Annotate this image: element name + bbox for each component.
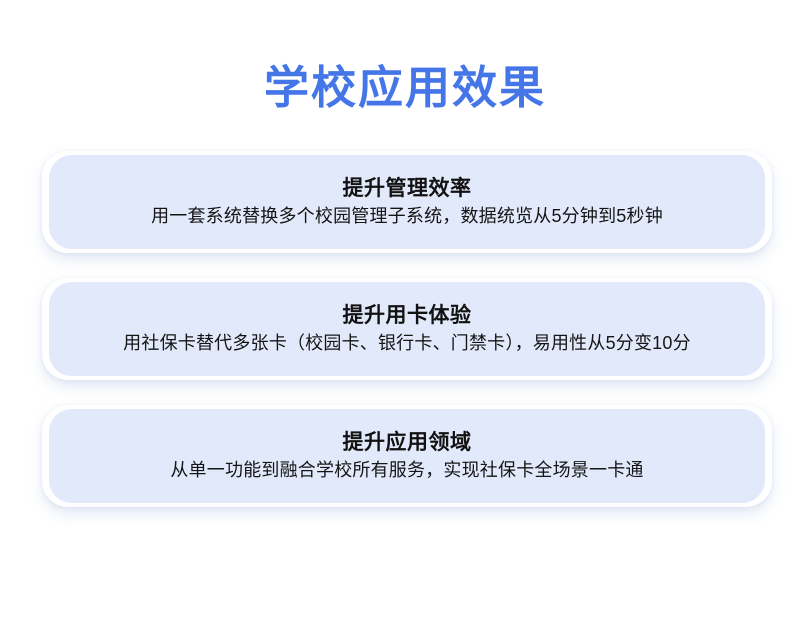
- benefit-card-1-body: 用一套系统替换多个校园管理子系统，数据统览从5分钟到5秒钟: [151, 204, 663, 229]
- benefit-card-3: 提升应用领域 从单一功能到融合学校所有服务，实现社保卡全场景一卡通: [42, 405, 772, 507]
- benefit-card-2-body: 用社保卡替代多张卡（校园卡、银行卡、门禁卡），易用性从5分变10分: [123, 331, 691, 356]
- benefit-card-2-inner: 提升用卡体验 用社保卡替代多张卡（校园卡、银行卡、门禁卡），易用性从5分变10分: [49, 282, 765, 376]
- benefit-card-2: 提升用卡体验 用社保卡替代多张卡（校园卡、银行卡、门禁卡），易用性从5分变10分: [42, 278, 772, 380]
- benefit-card-2-heading: 提升用卡体验: [343, 302, 472, 330]
- benefit-card-1-heading: 提升管理效率: [343, 175, 472, 203]
- benefit-card-3-inner: 提升应用领域 从单一功能到融合学校所有服务，实现社保卡全场景一卡通: [49, 409, 765, 503]
- benefit-card-1: 提升管理效率 用一套系统替换多个校园管理子系统，数据统览从5分钟到5秒钟: [42, 151, 772, 253]
- benefit-card-list: 提升管理效率 用一套系统替换多个校园管理子系统，数据统览从5分钟到5秒钟 提升用…: [42, 151, 772, 507]
- benefit-card-3-body: 从单一功能到融合学校所有服务，实现社保卡全场景一卡通: [170, 458, 643, 483]
- benefit-card-1-inner: 提升管理效率 用一套系统替换多个校园管理子系统，数据统览从5分钟到5秒钟: [49, 155, 765, 249]
- benefit-card-3-heading: 提升应用领域: [343, 429, 472, 457]
- school-application-effect-page: 学校应用效果 提升管理效率 用一套系统替换多个校园管理子系统，数据统览从5分钟到…: [0, 0, 810, 622]
- page-title: 学校应用效果: [0, 62, 810, 114]
